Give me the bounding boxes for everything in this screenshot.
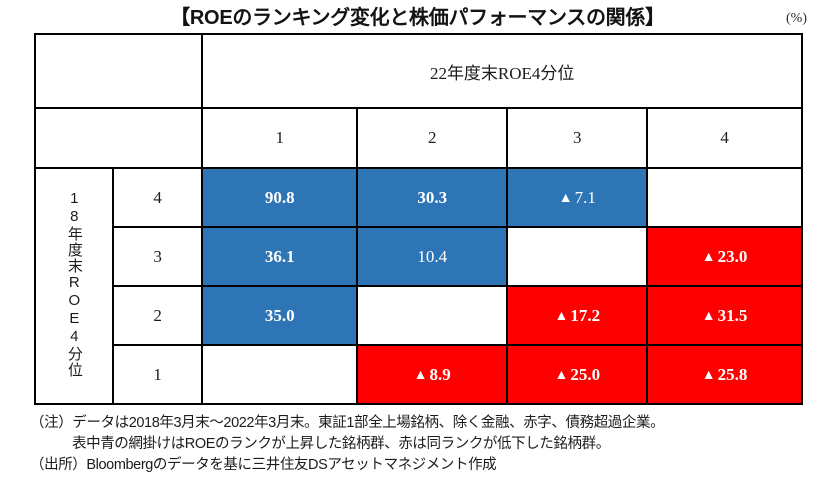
page-title: 【ROEのランキング変化と株価パフォーマンスの関係】 — [0, 5, 835, 31]
column-header-row: 1 2 3 4 — [35, 108, 802, 168]
triangle-down-icon: ▲ — [559, 191, 573, 206]
cell-value: 8.9 — [430, 365, 451, 384]
cell-value: 23.0 — [718, 247, 748, 266]
table-row: 3 36.1 10.4 ▲23.0 — [35, 227, 802, 286]
footnote-note-continued: 表中青の網掛けはROEのランクが上昇した銘柄群、赤は同ランクが低下した銘柄群。 — [30, 434, 825, 455]
cell-r1-c1 — [202, 345, 357, 404]
column-header-3: 3 — [507, 108, 647, 168]
cell-r3-c4: ▲23.0 — [647, 227, 802, 286]
cell-r2-c4: ▲31.5 — [647, 286, 802, 345]
header-group-row: 22年度末ROE4分位 — [35, 34, 802, 108]
cell-r2-c2 — [357, 286, 507, 345]
row-group-label-cell: 18年度末ROE4分位 — [35, 168, 113, 404]
cell-value: 25.8 — [718, 365, 748, 384]
column-header-1: 1 — [202, 108, 357, 168]
title-row: 【ROEのランキング変化と株価パフォーマンスの関係】 (%) — [0, 5, 835, 33]
cell-r4-c2: 30.3 — [357, 168, 507, 227]
triangle-down-icon: ▲ — [702, 250, 716, 265]
footnote-source: （出所）Bloombergのデータを基に三井住友DSアセットマネジメント作成 — [30, 455, 825, 476]
cell-r3-c2: 10.4 — [357, 227, 507, 286]
table-row: 1 ▲8.9 ▲25.0 ▲25.8 — [35, 345, 802, 404]
cell-r2-c1: 35.0 — [202, 286, 357, 345]
cell-r4-c1: 90.8 — [202, 168, 357, 227]
footnotes: （注）データは2018年3月末～2022年3月末。東証1部全上場銘柄、除く金融、… — [30, 413, 825, 476]
unit-label: (%) — [786, 11, 807, 27]
row-header-4: 4 — [113, 168, 202, 227]
cell-value: 7.1 — [575, 188, 596, 207]
cell-value: 36.1 — [265, 247, 295, 266]
triangle-down-icon: ▲ — [414, 368, 428, 383]
column-header-2: 2 — [357, 108, 507, 168]
triangle-down-icon: ▲ — [554, 368, 568, 383]
cell-value: 25.0 — [570, 365, 600, 384]
cell-value: 35.0 — [265, 306, 295, 325]
corner-blank-cell-2 — [35, 108, 202, 168]
row-header-2: 2 — [113, 286, 202, 345]
table-row: 18年度末ROE4分位 4 90.8 30.3 ▲7.1 — [35, 168, 802, 227]
cell-r3-c1: 36.1 — [202, 227, 357, 286]
cell-r4-c4 — [647, 168, 802, 227]
cell-r3-c3 — [507, 227, 647, 286]
cell-value: 30.3 — [417, 188, 447, 207]
triangle-down-icon: ▲ — [702, 309, 716, 324]
footnote-note: （注）データは2018年3月末～2022年3月末。東証1部全上場銘柄、除く金融、… — [30, 413, 825, 434]
cell-r1-c3: ▲25.0 — [507, 345, 647, 404]
column-header-group: 22年度末ROE4分位 — [202, 34, 802, 108]
cell-r2-c3: ▲17.2 — [507, 286, 647, 345]
triangle-down-icon: ▲ — [702, 368, 716, 383]
cell-r4-c3: ▲7.1 — [507, 168, 647, 227]
row-header-1: 1 — [113, 345, 202, 404]
row-header-3: 3 — [113, 227, 202, 286]
roe-quartile-matrix: 22年度末ROE4分位 1 2 3 4 18年度末ROE4分位 4 90.8 3… — [34, 33, 803, 405]
corner-blank-cell — [35, 34, 202, 108]
cell-value: 31.5 — [718, 306, 748, 325]
cell-value: 17.2 — [570, 306, 600, 325]
cell-r1-c4: ▲25.8 — [647, 345, 802, 404]
column-header-4: 4 — [647, 108, 802, 168]
cell-value: 90.8 — [265, 188, 295, 207]
table-row: 2 35.0 ▲17.2 ▲31.5 — [35, 286, 802, 345]
triangle-down-icon: ▲ — [554, 309, 568, 324]
matrix-table-wrapper: 22年度末ROE4分位 1 2 3 4 18年度末ROE4分位 4 90.8 3… — [34, 33, 803, 405]
cell-value: 10.4 — [417, 247, 447, 266]
cell-r1-c2: ▲8.9 — [357, 345, 507, 404]
row-group-label: 18年度末ROE4分位 — [66, 190, 82, 378]
